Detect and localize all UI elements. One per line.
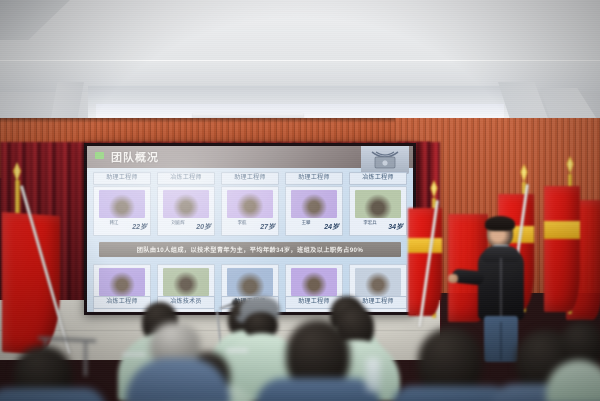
top-label-2: 助理工程师: [221, 172, 279, 185]
member-photo: [163, 268, 209, 296]
member-age: 34岁: [388, 222, 403, 232]
member-card[interactable]: 王攀 24岁: [285, 186, 343, 236]
presenter-hand: [448, 274, 458, 283]
bottom-label-1: 冶炼技术员: [157, 296, 215, 309]
green-square-marker-icon: [95, 152, 104, 159]
member-photo: [291, 268, 337, 296]
member-card[interactable]: 李航 27岁: [221, 186, 279, 236]
company-logo-icon: [361, 146, 409, 174]
summary-banner: 团队由10人组成，以技术型青年为主，平均年龄34岁，班组及以上职务占90%: [99, 242, 401, 257]
projection-screen[interactable]: 团队概况 助理工程师 冶炼工程师 助理工程师 助理工程师 冶炼工程师 韩江 22…: [87, 146, 413, 312]
presenter-hair: [485, 216, 515, 231]
member-name: 李航: [227, 220, 257, 225]
ceiling-upper-slab: [0, 0, 600, 68]
top-label-3: 助理工程师: [285, 172, 343, 185]
member-name: 刘庭辉: [163, 220, 193, 225]
member-age: 24岁: [324, 222, 339, 232]
member-name: 李宏兵: [355, 220, 385, 225]
bottom-label-3: 助理工程师: [285, 296, 343, 309]
member-age: 22岁: [132, 222, 147, 232]
member-name: 王攀: [291, 220, 321, 225]
microphone-capsule-icon: [232, 299, 239, 306]
member-photo: [291, 190, 337, 218]
presenter-jeans-seam: [500, 322, 502, 360]
member-age: 27岁: [260, 222, 275, 232]
flag-pole-tip-icon: [564, 156, 574, 176]
flag-pole-tip-icon: [428, 180, 438, 200]
slide-title: 团队概况: [111, 149, 159, 165]
member-photo: [227, 190, 273, 218]
flag-pole-tip-icon: [10, 162, 20, 182]
microphone[interactable]: [212, 295, 242, 350]
flag-stripe: [408, 238, 442, 253]
flag-pole-tip-icon: [518, 164, 528, 184]
member-photo: [355, 190, 401, 218]
top-label-4: 冶炼工程师: [349, 172, 407, 185]
member-age: 20岁: [196, 222, 211, 232]
conference-room-photo: 团队概况 助理工程师 冶炼工程师 助理工程师 助理工程师 冶炼工程师 韩江 22…: [0, 0, 600, 401]
top-member-row: 韩江 22岁 刘庭辉 20岁 李航 27岁 王攀 24岁 李宏兵 34岁: [93, 186, 407, 234]
top-label-row: 助理工程师 冶炼工程师 助理工程师 助理工程师 冶炼工程师: [93, 172, 407, 183]
member-photo: [163, 190, 209, 218]
water-bottle: [366, 358, 380, 392]
summary-banner-text: 团队由10人组成，以技术型青年为主，平均年龄34岁，班组及以上职务占90%: [137, 245, 364, 254]
member-card[interactable]: 刘庭辉 20岁: [157, 186, 215, 236]
top-label-1: 冶炼工程师: [157, 172, 215, 185]
bottom-label-4: 助理工程师: [349, 296, 407, 309]
member-photo: [355, 268, 401, 296]
presenter-jacket-zipper: [500, 258, 502, 316]
member-card[interactable]: 李宏兵 34岁: [349, 186, 407, 236]
bottom-label-row: 冶炼工程师 冶炼技术员 助理工程师 助理工程师 助理工程师: [93, 296, 407, 307]
member-photo: [227, 268, 273, 296]
presenter[interactable]: [452, 218, 542, 368]
microphone-stand: [216, 311, 222, 349]
flag-stand: [38, 332, 100, 378]
